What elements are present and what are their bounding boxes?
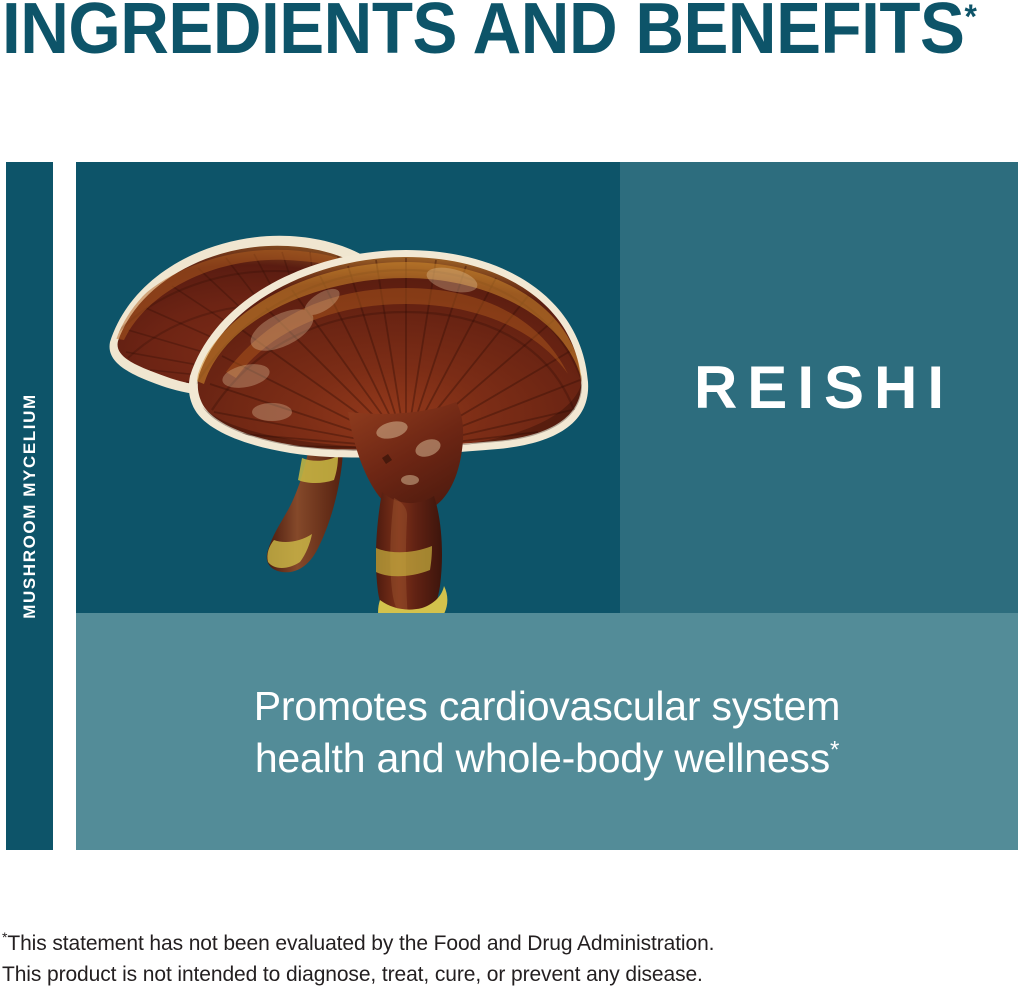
disclaimer: *This statement has not been evaluated b… — [2, 928, 902, 990]
reishi-mushroom-illustration — [76, 162, 620, 613]
page-title: INGREDIENTS AND BENEFITS* — [2, 0, 977, 68]
ingredient-card: MUSHROOM MYCELIUM — [0, 162, 1024, 852]
ingredient-name: REISHI — [684, 358, 954, 418]
ingredient-name-pane: REISHI — [620, 162, 1018, 613]
category-bar-label: MUSHROOM MYCELIUM — [20, 393, 40, 619]
benefit-asterisk: * — [830, 736, 839, 763]
benefit-text: Promotes cardiovascular systemhealth and… — [157, 680, 937, 784]
category-bar: MUSHROOM MYCELIUM — [6, 162, 53, 850]
ingredient-panel: REISHI Promotes cardiovascular systemhea… — [76, 162, 1018, 850]
benefit-band: Promotes cardiovascular systemhealth and… — [76, 613, 1018, 850]
ingredient-photo-pane — [76, 162, 620, 613]
disclaimer-line-1: *This statement has not been evaluated b… — [2, 928, 902, 959]
page-title-asterisk: * — [964, 0, 976, 36]
page-title-text: INGREDIENTS AND BENEFITS — [2, 0, 964, 69]
disclaimer-line-1-text: This statement has not been evaluated by… — [7, 932, 714, 955]
benefit-line-2: health and whole-body wellness — [255, 735, 830, 781]
disclaimer-line-2: This product is not intended to diagnose… — [2, 959, 902, 990]
benefit-line-1: Promotes cardiovascular system — [254, 683, 840, 729]
